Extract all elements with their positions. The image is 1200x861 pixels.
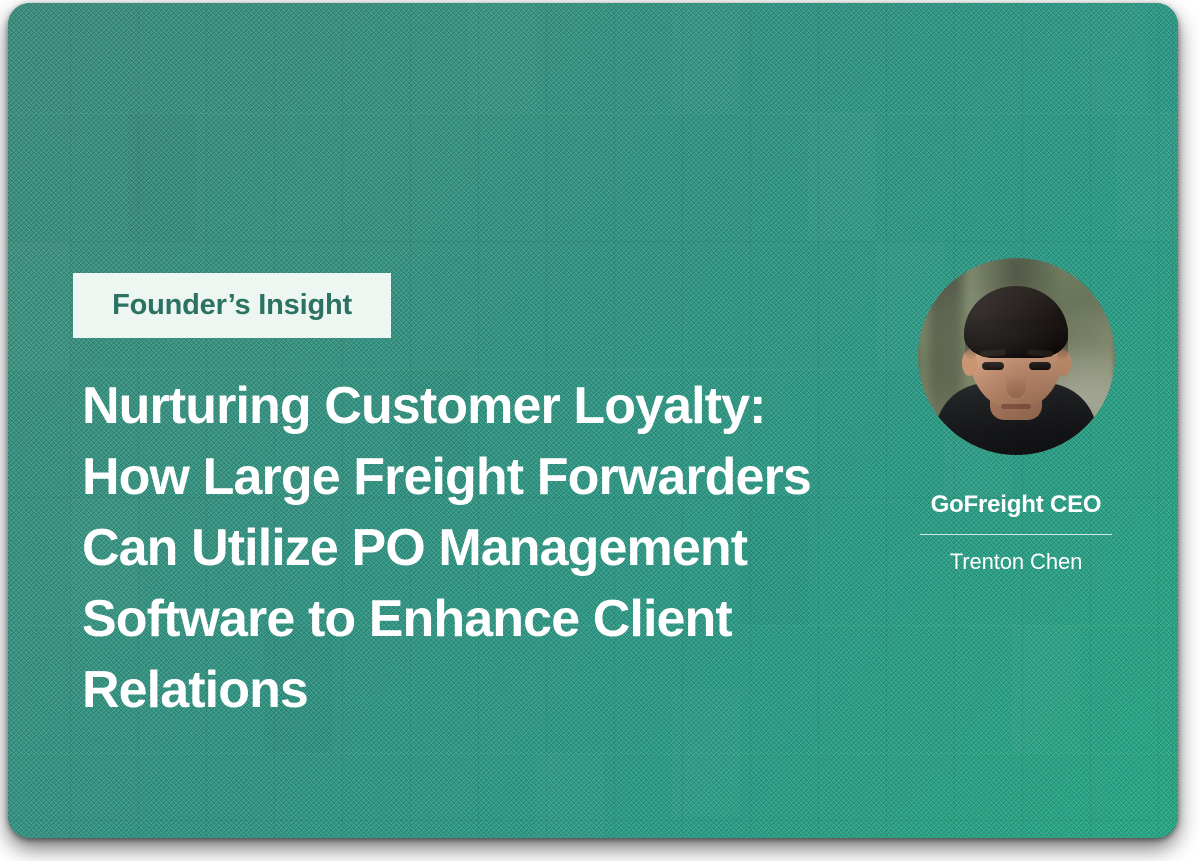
founders-insight-badge: Founder’s Insight [73, 273, 391, 338]
author-divider [920, 534, 1112, 535]
article-hero-card: Founder’s Insight Nurturing Customer Loy… [8, 3, 1178, 838]
screenshot-stage: Founder’s Insight Nurturing Customer Loy… [0, 0, 1200, 861]
badge-label: Founder’s Insight [112, 289, 352, 322]
avatar [918, 258, 1115, 455]
page-title: Nurturing Customer Loyalty: How Large Fr… [82, 371, 842, 726]
avatar-shading [918, 258, 1115, 455]
card-content: Founder’s Insight Nurturing Customer Loy… [8, 3, 1178, 838]
author-name: Trenton Chen [950, 551, 1083, 573]
author-role: GoFreight CEO [931, 493, 1102, 517]
author-block: GoFreight CEO Trenton Chen [888, 258, 1144, 573]
